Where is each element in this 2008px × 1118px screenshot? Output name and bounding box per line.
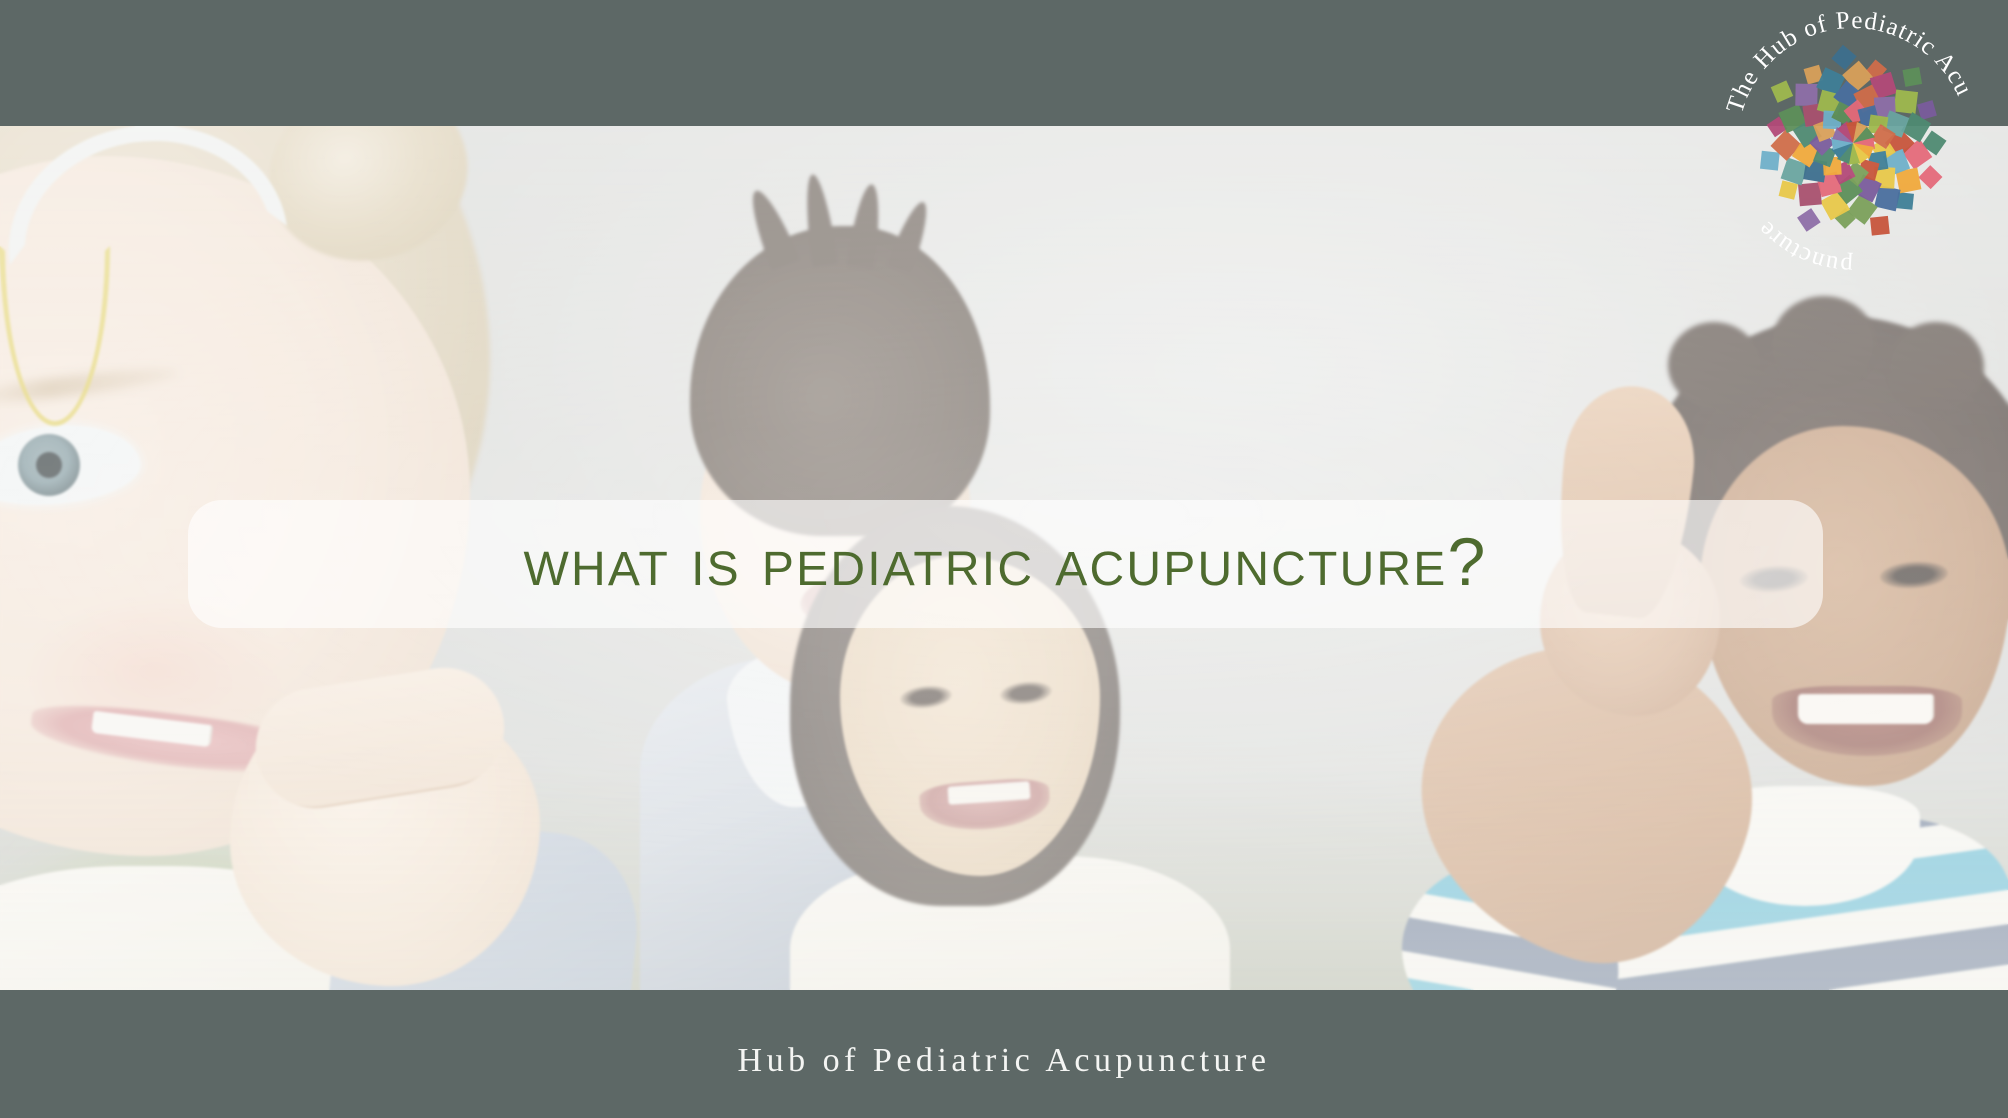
- top-brand-bar: [0, 0, 2008, 126]
- child4-hair-curl: [1668, 322, 1760, 408]
- child4-hair-curl: [1772, 296, 1876, 390]
- child-girl-with-headband: [0, 126, 280, 426]
- slide-canvas: What is pediatric acupuncture?: [0, 0, 2008, 1118]
- mandala-mark: [1756, 43, 1946, 239]
- page-title: What is pediatric acupuncture?: [523, 528, 1487, 600]
- child3-headband: [0, 126, 287, 265]
- brand-logo[interactable]: The Hub of Pediatric Acu puncture: [1718, 8, 1988, 278]
- headline-plate: What is pediatric acupuncture?: [188, 500, 1823, 628]
- footer-brand-name: Hub of Pediatric Acupuncture: [0, 1044, 2008, 1078]
- child3-yellow-necklace: [0, 246, 110, 426]
- child1-pupil: [36, 452, 62, 478]
- child4-teeth: [1798, 694, 1934, 724]
- child4-hair-curl: [1888, 322, 1984, 412]
